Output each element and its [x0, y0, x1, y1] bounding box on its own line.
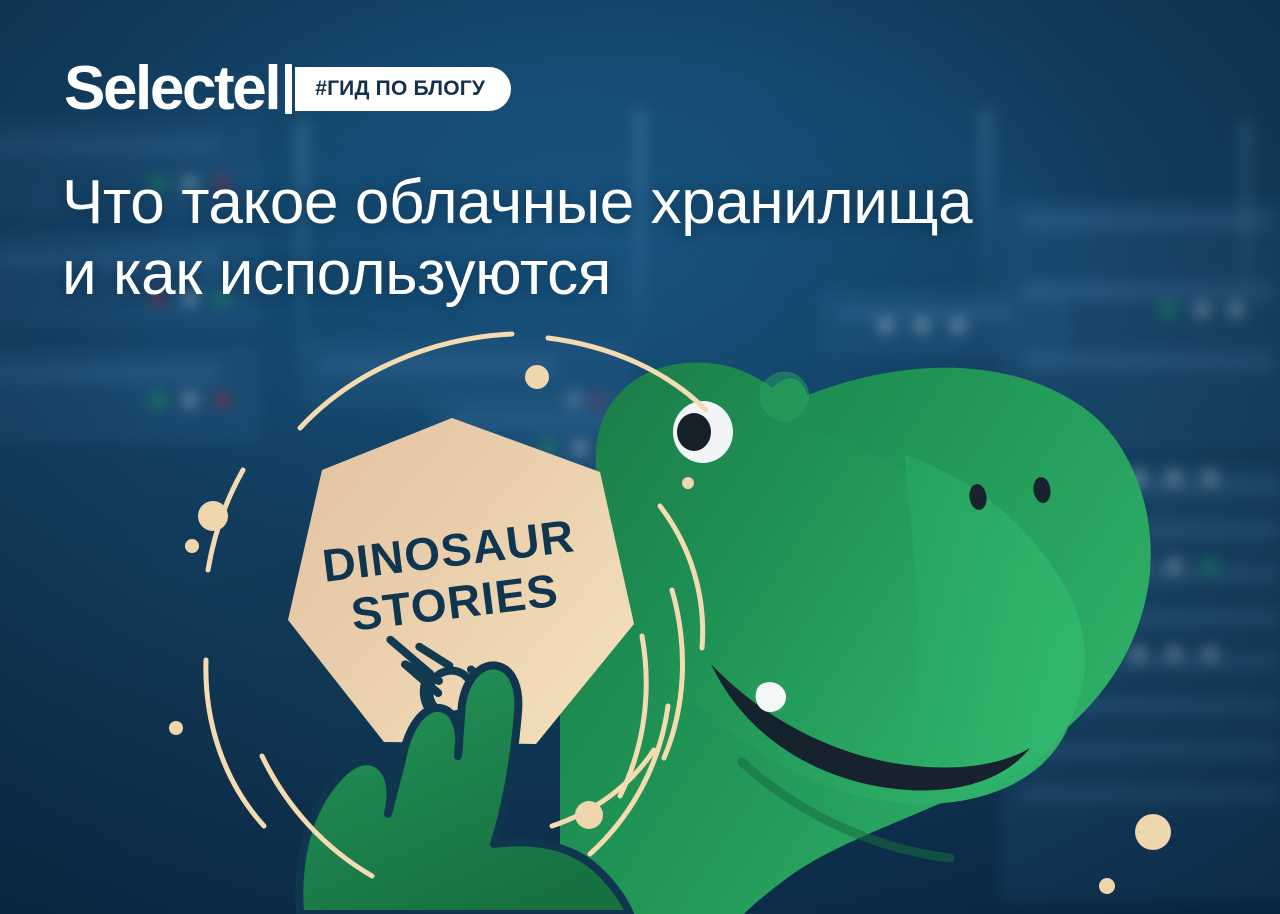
page-title-line-2: и как используются	[62, 239, 1242, 310]
blog-guide-badge-label: #ГИД ПО БЛОГУ	[315, 77, 485, 101]
blog-guide-badge: #ГИД ПО БЛОГУ	[295, 67, 511, 111]
page-title-line-1: Что такое облачные хранилища	[62, 168, 1242, 239]
dinosaur-illustration: DINOSAUR STORIES	[0, 0, 1280, 914]
selectel-logo: Selectel	[64, 58, 279, 120]
logo-divider-bar	[285, 64, 292, 114]
blog-cover-image: DINOSAUR STORIES	[0, 0, 1280, 914]
brand-header: Selectel #ГИД ПО БЛОГУ	[64, 58, 511, 120]
dinosaur-body	[560, 362, 1151, 914]
page-title: Что такое облачные хранилища и как испол…	[62, 168, 1242, 309]
